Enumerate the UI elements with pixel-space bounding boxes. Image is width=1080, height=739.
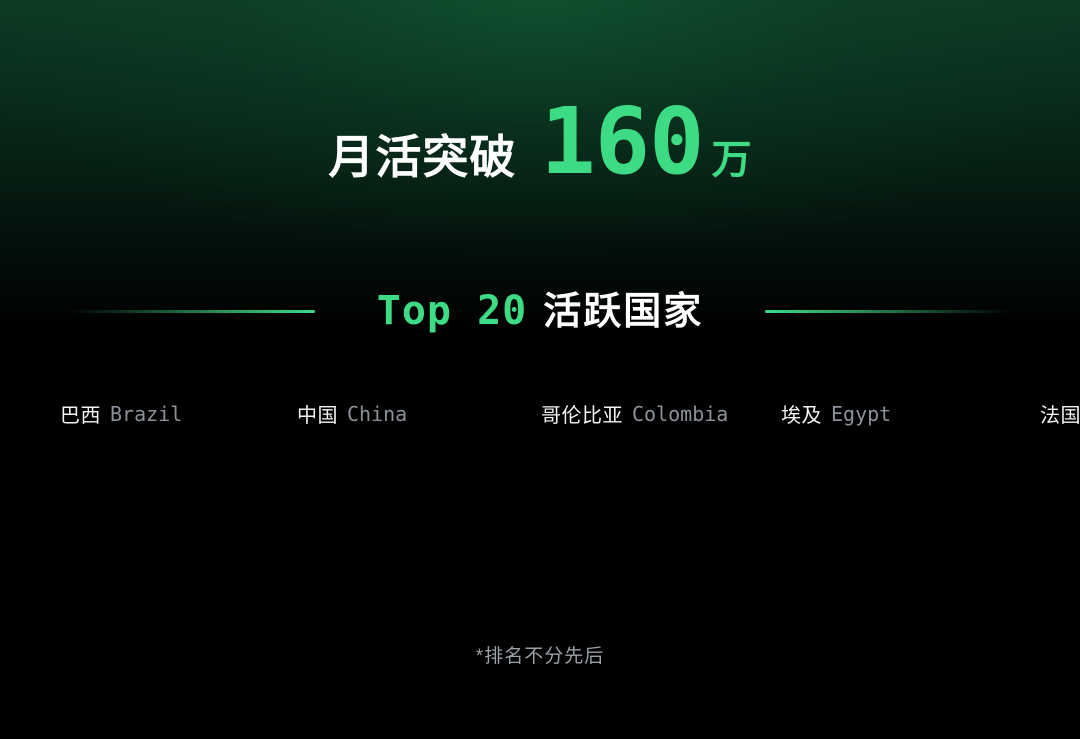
country-name-cn: 巴西 (60, 399, 101, 428)
country-item: 哥伦比亚Colombia (541, 392, 781, 435)
country-name-cn: 中国 (297, 399, 338, 428)
headline-prefix: 月活突破 (328, 134, 516, 180)
subtitle-text: Top 20活跃国家 (377, 291, 704, 331)
country-name-en: Colombia (632, 402, 728, 426)
country-name-cn: 埃及 (781, 399, 822, 428)
country-name-en: Egypt (831, 402, 891, 426)
divider-line-left (70, 310, 315, 313)
headline-unit: 万 (712, 140, 752, 180)
country-name-en: China (347, 402, 407, 426)
headline-number: 160 (540, 96, 703, 188)
country-grid: 巴西Brazil 中国China 哥伦比亚Colombia 埃及Egypt 法国… (60, 392, 1040, 435)
country-name-cn: 法国 (1040, 399, 1080, 428)
footnote: *排名不分先后 (0, 641, 1080, 668)
country-item: 中国China (297, 392, 541, 435)
headline: 月活突破160万 (0, 96, 1080, 188)
country-item: 法国France (1040, 392, 1080, 435)
subtitle-rank-label: Top 20 (377, 288, 528, 334)
country-item: 巴西Brazil (60, 392, 297, 435)
subtitle-cn-label: 活跃国家 (543, 291, 703, 333)
country-name-en: Brazil (110, 402, 182, 426)
subtitle-row: Top 20活跃国家 (0, 280, 1080, 342)
country-item: 埃及Egypt (781, 392, 1040, 435)
promo-poster: 月活突破160万 Top 20活跃国家 巴西Brazil 中国China 哥伦比… (0, 0, 1080, 739)
country-name-cn: 哥伦比亚 (541, 399, 623, 428)
divider-line-right (765, 310, 1010, 313)
